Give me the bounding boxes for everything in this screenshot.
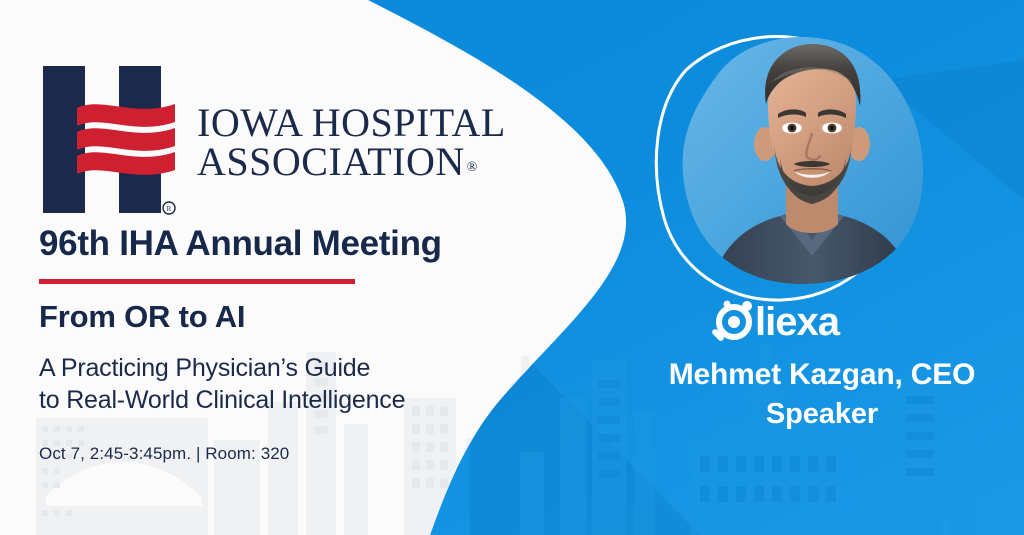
meeting-title: 96th IHA Annual Meeting [39, 226, 442, 263]
iha-wordmark: IOWA HOSPITAL ASSOCIATION® [197, 98, 506, 181]
cliexa-logo: liexa [620, 296, 1024, 348]
title-divider-rule [39, 279, 355, 284]
session-subtitle-line-1: A Practicing Physician’s Guide [39, 352, 405, 384]
session-subtitle-line-2: to Real-World Clinical Intelligence [39, 384, 405, 416]
session-subtitle: A Practicing Physician’s Guide to Real-W… [39, 352, 405, 416]
svg-text:liexa: liexa [755, 300, 841, 344]
session-datetime-room: Oct 7, 2:45-3:45pm. | Room: 320 [39, 444, 289, 464]
speaker-portrait [620, 18, 1024, 286]
speaker-role-label: Speaker [620, 398, 1024, 431]
registered-trademark-symbol: ® [467, 160, 478, 175]
session-title: From OR to AI [39, 301, 245, 334]
right-speaker-column: liexa Mehmet Kazgan, CEO Speaker [620, 0, 1024, 535]
svg-text:R: R [167, 205, 172, 213]
speaker-announcement-banner: R IOWA HOSPITAL ASSOCIATION® 96th IHA An… [0, 0, 1024, 535]
iha-wordmark-line-2: ASSOCIATION® [197, 143, 506, 181]
iha-h-mark-icon: R [39, 62, 181, 217]
left-info-column: R IOWA HOSPITAL ASSOCIATION® 96th IHA An… [0, 0, 560, 535]
iha-wordmark-line-1: IOWA HOSPITAL [197, 104, 506, 142]
speaker-name-title: Mehmet Kazgan, CEO [620, 358, 1024, 392]
iowa-hospital-association-logo: R IOWA HOSPITAL ASSOCIATION® [39, 62, 506, 217]
iha-wordmark-line-2-text: ASSOCIATION [197, 139, 465, 184]
